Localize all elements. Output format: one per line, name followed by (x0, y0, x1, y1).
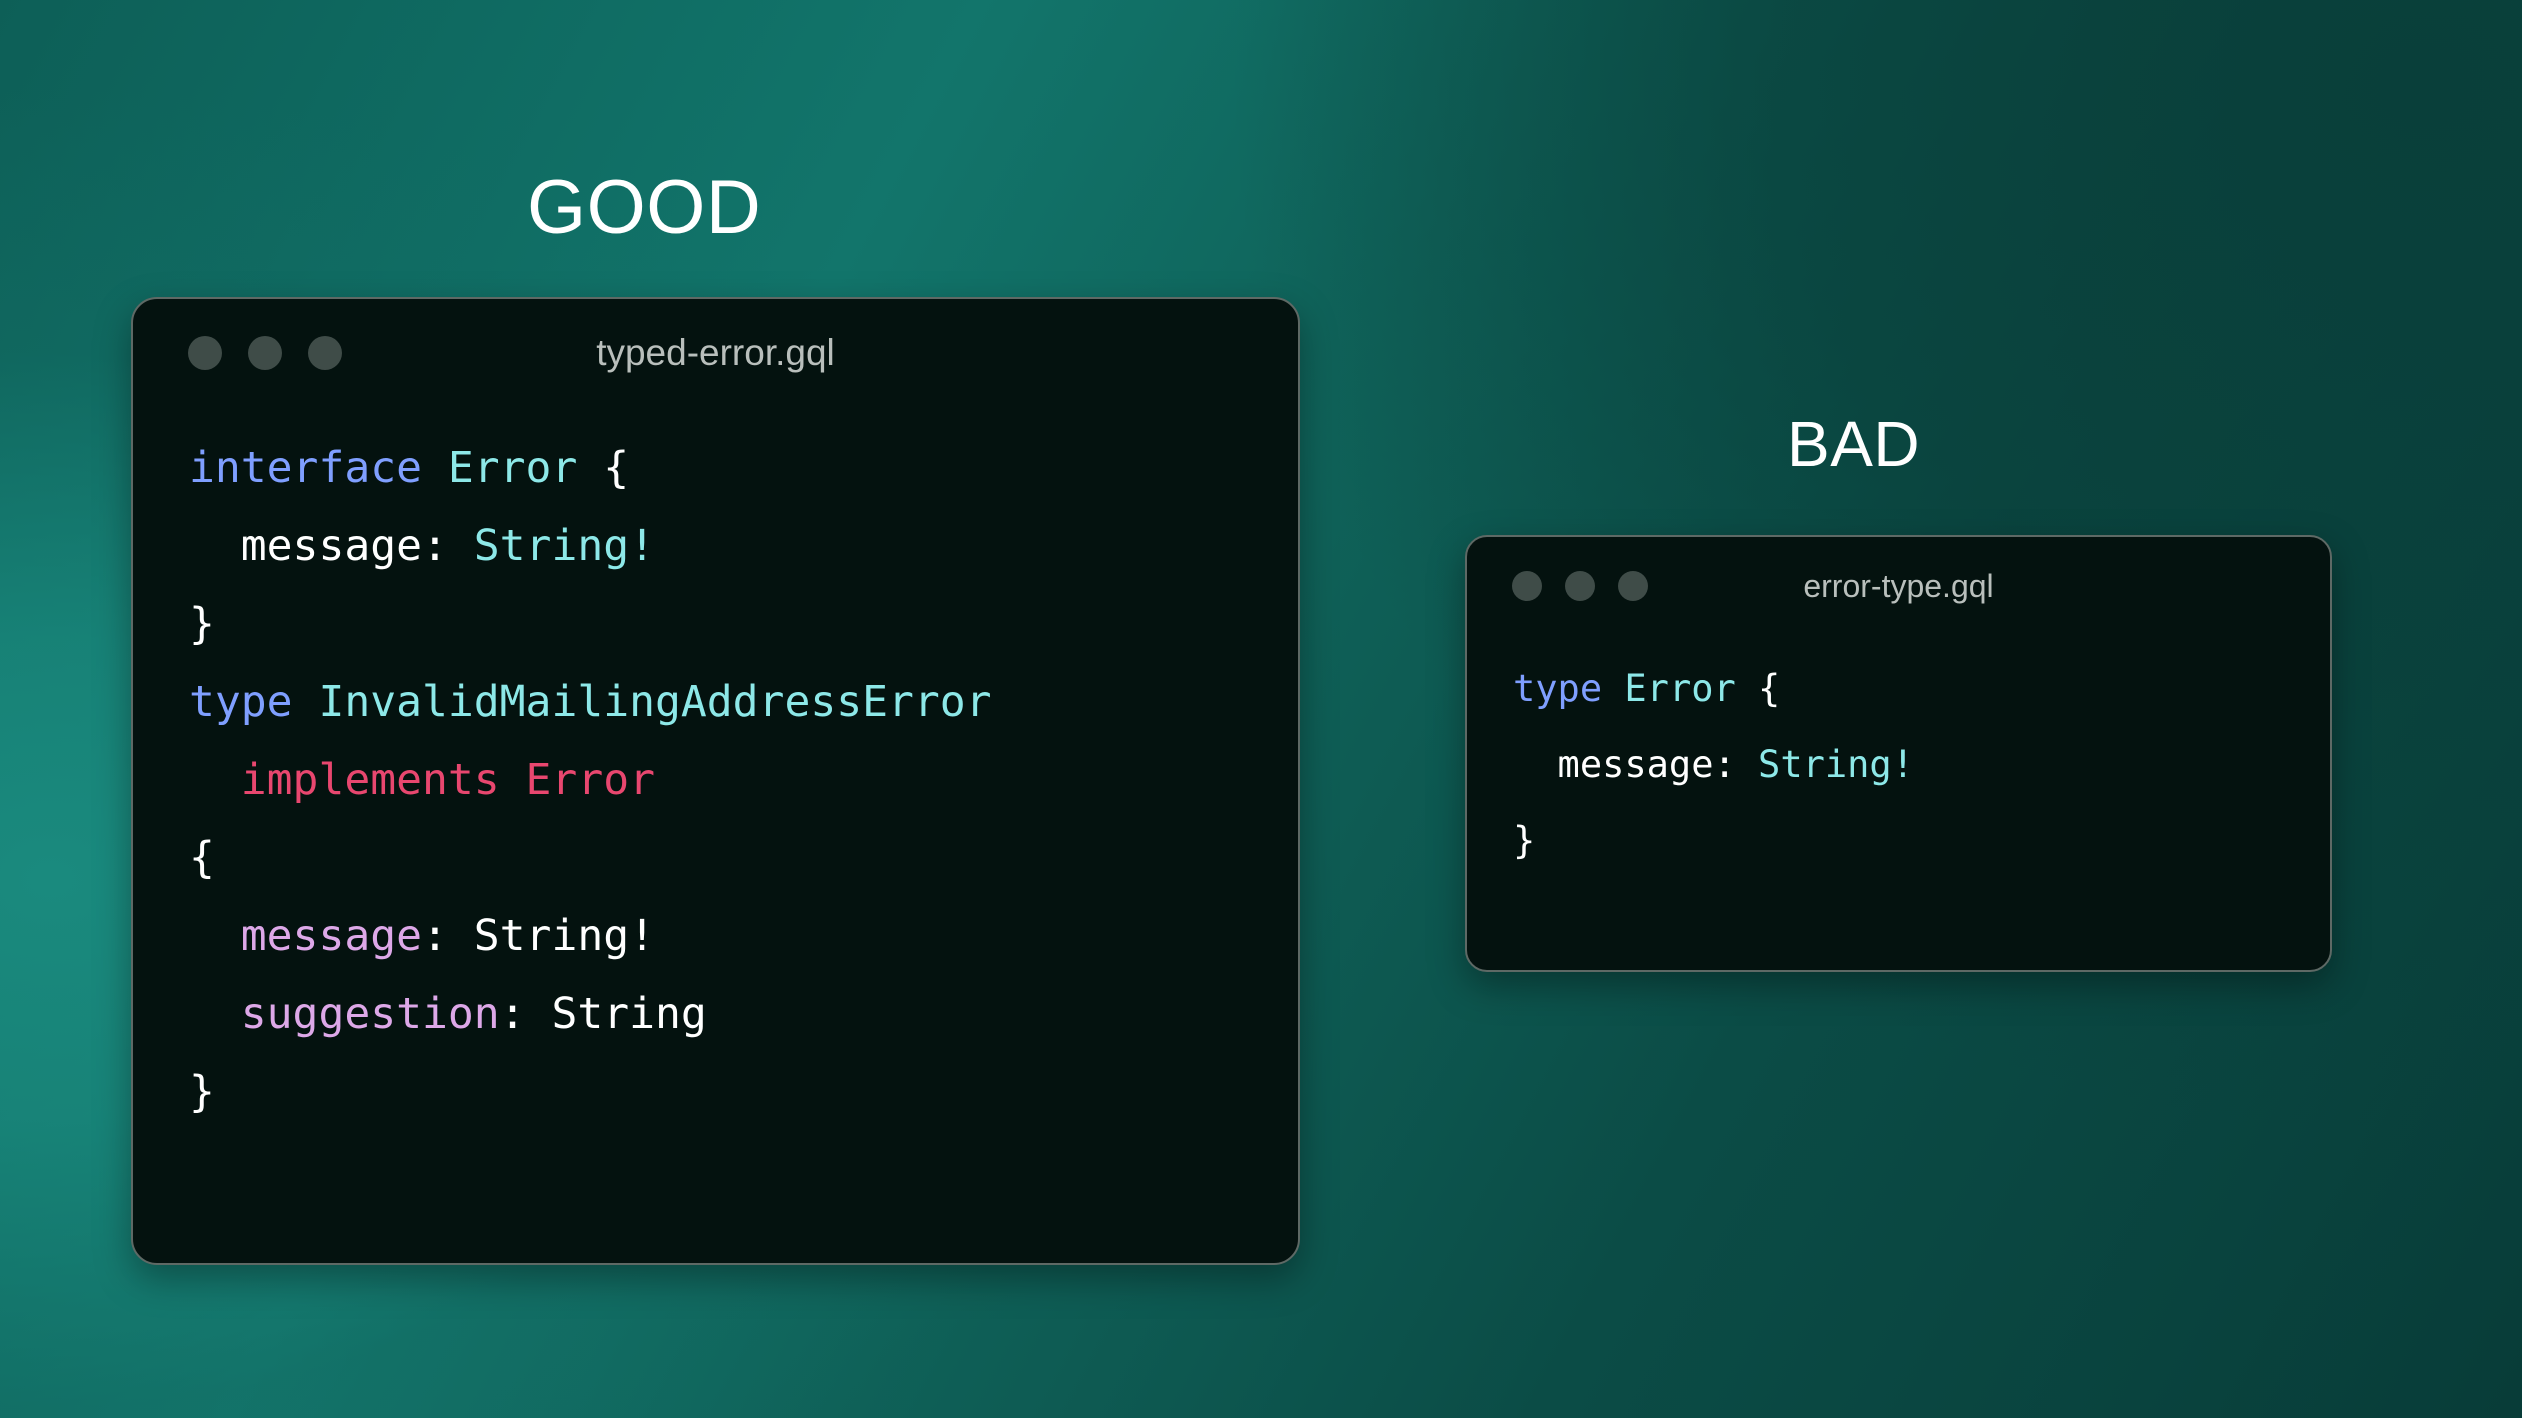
code-line: suggestion: String (189, 975, 1298, 1053)
code-line: } (1513, 803, 2330, 879)
code-token-plain: message (1513, 743, 1713, 786)
code-line: } (189, 1053, 1298, 1131)
code-token-punct: { (189, 833, 215, 883)
code-line: { (189, 819, 1298, 897)
code-line: type Error { (1513, 651, 2330, 727)
code-token-punct: { (1736, 667, 1781, 710)
code-token-type: String! (474, 521, 655, 571)
code-token-punct: : (422, 521, 474, 571)
close-dot-icon[interactable] (1512, 571, 1542, 601)
code-token-punct: : (422, 911, 474, 961)
code-token-type: InvalidMailingAddressError (318, 677, 991, 727)
section-label-good: GOOD (527, 170, 761, 246)
code-token-punct: } (189, 1067, 215, 1117)
window-titlebar: typed-error.gql (133, 299, 1298, 407)
code-line: message: String! (1513, 727, 2330, 803)
code-token-plain: String! (474, 911, 655, 961)
code-line: implements Error (189, 741, 1298, 819)
code-line: interface Error { (189, 429, 1298, 507)
code-window-bad: error-type.gql type Error { message: Str… (1465, 535, 2332, 972)
code-token-punct: : (1713, 743, 1758, 786)
code-token-impl: implements Error (189, 755, 655, 805)
code-token-type: Error (1624, 667, 1735, 710)
code-token-field: suggestion (189, 989, 500, 1039)
minimize-dot-icon[interactable] (1565, 571, 1595, 601)
code-line: type InvalidMailingAddressError (189, 663, 1298, 741)
code-token-plain: String (551, 989, 706, 1039)
code-token-type: Error (448, 443, 577, 493)
code-token-keyword: interface (189, 443, 448, 493)
maximize-dot-icon[interactable] (308, 336, 342, 370)
code-line: } (189, 585, 1298, 663)
code-token-punct: : (500, 989, 552, 1039)
traffic-lights (1512, 571, 1671, 601)
code-token-field: message (189, 911, 422, 961)
code-line: message: String! (189, 897, 1298, 975)
code-token-keyword: type (1513, 667, 1624, 710)
code-token-type: String! (1758, 743, 1914, 786)
code-token-punct: { (577, 443, 629, 493)
slide-background: GOOD typed-error.gql interface Error { m… (0, 0, 2522, 1418)
close-dot-icon[interactable] (188, 336, 222, 370)
code-token-plain: message (189, 521, 422, 571)
code-token-keyword: type (189, 677, 318, 727)
window-titlebar: error-type.gql (1467, 537, 2330, 635)
code-token-punct: } (1513, 819, 1535, 862)
traffic-lights (188, 336, 368, 370)
code-window-good: typed-error.gql interface Error { messag… (131, 297, 1300, 1265)
code-line: message: String! (189, 507, 1298, 585)
minimize-dot-icon[interactable] (248, 336, 282, 370)
code-content: type Error { message: String!} (1467, 635, 2330, 879)
code-token-punct: } (189, 599, 215, 649)
code-content: interface Error { message: String!}type … (133, 407, 1298, 1131)
section-label-bad: BAD (1787, 412, 1920, 476)
maximize-dot-icon[interactable] (1618, 571, 1648, 601)
